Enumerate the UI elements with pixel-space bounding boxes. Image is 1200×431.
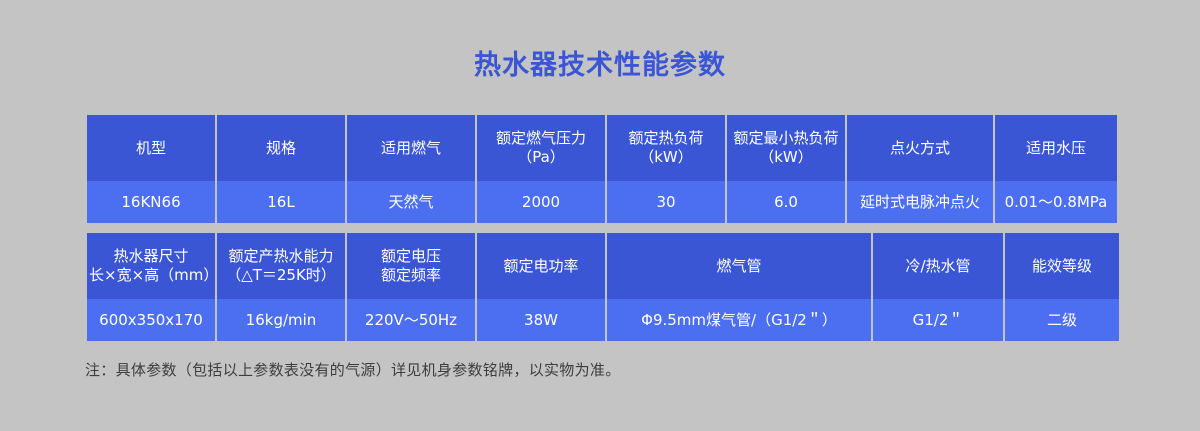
cell-voltage-frequency: 220V～50Hz: [347, 299, 475, 341]
header-line-2: （Pa）: [479, 148, 603, 167]
column-header-rated-gas-pressure: 额定燃气压力 （Pa）: [477, 115, 605, 181]
cell-gas-pipe: Φ9.5mm煤气管/（G1/2＂）: [607, 299, 871, 341]
table-header-row: 热水器尺寸 长×宽×高（mm） 额定产热水能力 （△T＝25K时） 额定电压 额…: [87, 233, 1119, 299]
column-header-rated-power: 额定电功率: [477, 233, 605, 299]
header-line-1: 额定燃气压力: [479, 129, 603, 148]
header-line-2: （△T＝25K时）: [219, 266, 343, 285]
column-header-rated-min-heat-load: 额定最小热负荷 （kW）: [727, 115, 845, 181]
cell-model: 16KN66: [87, 181, 215, 223]
column-header-spec: 规格: [217, 115, 345, 181]
header-line-2: （kW）: [609, 148, 723, 167]
header-line-1: 适用水压: [997, 139, 1115, 158]
header-line-1: 能效等级: [1007, 257, 1117, 276]
spec-table-2: 热水器尺寸 长×宽×高（mm） 额定产热水能力 （△T＝25K时） 额定电压 额…: [85, 233, 1121, 341]
column-header-ignition-type: 点火方式: [847, 115, 993, 181]
header-line-1: 额定电压: [349, 247, 473, 266]
header-line-1: 额定电功率: [479, 257, 603, 276]
column-header-hot-water-capacity: 额定产热水能力 （△T＝25K时）: [217, 233, 345, 299]
column-header-efficiency-grade: 能效等级: [1005, 233, 1119, 299]
cell-hot-water-capacity: 16kg/min: [217, 299, 345, 341]
cell-rated-min-heat-load: 6.0: [727, 181, 845, 223]
header-line-2: 额定频率: [349, 266, 473, 285]
cell-efficiency-grade: 二级: [1005, 299, 1119, 341]
tables-container: 机型 规格 适用燃气 额定燃气压力 （Pa） 额定热负荷 （kW）: [85, 79, 1115, 341]
spec-table-1: 机型 规格 适用燃气 额定燃气压力 （Pa） 额定热负荷 （kW）: [85, 115, 1119, 223]
spec-sheet-page: 热水器技术性能参数 机型 规格 适用燃气: [0, 0, 1200, 431]
header-line-1: 额定产热水能力: [219, 247, 343, 266]
header-line-1: 冷/热水管: [875, 257, 1001, 276]
header-line-2: （kW）: [729, 148, 843, 167]
header-line-1: 燃气管: [609, 257, 869, 276]
cell-gas-type: 天然气: [347, 181, 475, 223]
table-row: 600x350x170 16kg/min 220V～50Hz 38W Φ9.5m…: [87, 299, 1119, 341]
table-header-row: 机型 规格 适用燃气 额定燃气压力 （Pa） 额定热负荷 （kW）: [87, 115, 1117, 181]
header-line-1: 热水器尺寸: [89, 247, 213, 266]
cell-rated-power: 38W: [477, 299, 605, 341]
column-header-model: 机型: [87, 115, 215, 181]
column-header-gas-pipe: 燃气管: [607, 233, 871, 299]
cell-dimensions: 600x350x170: [87, 299, 215, 341]
column-header-water-pressure: 适用水压: [995, 115, 1117, 181]
cell-rated-heat-load: 30: [607, 181, 725, 223]
column-header-voltage-frequency: 额定电压 额定频率: [347, 233, 475, 299]
header-line-1: 规格: [219, 139, 343, 158]
cell-ignition-type: 延时式电脉冲点火: [847, 181, 993, 223]
header-line-1: 额定热负荷: [609, 129, 723, 148]
header-line-1: 适用燃气: [349, 139, 473, 158]
header-line-2: 长×宽×高（mm）: [89, 266, 213, 285]
column-header-dimensions: 热水器尺寸 长×宽×高（mm）: [87, 233, 215, 299]
cell-water-pressure: 0.01～0.8MPa: [995, 181, 1117, 223]
cell-rated-gas-pressure: 2000: [477, 181, 605, 223]
cell-water-pipe: G1/2＂: [873, 299, 1003, 341]
header-line-1: 点火方式: [849, 139, 991, 158]
page-title: 热水器技术性能参数: [0, 0, 1200, 79]
column-header-gas-type: 适用燃气: [347, 115, 475, 181]
cell-spec: 16L: [217, 181, 345, 223]
footnote: 注：具体参数（包括以上参数表没有的气源）详见机身参数铭牌，以实物为准。: [85, 341, 1115, 380]
column-header-rated-heat-load: 额定热负荷 （kW）: [607, 115, 725, 181]
column-header-water-pipe: 冷/热水管: [873, 233, 1003, 299]
header-line-1: 额定最小热负荷: [729, 129, 843, 148]
header-line-1: 机型: [89, 139, 213, 158]
table-row: 16KN66 16L 天然气 2000 30 6.0 延时式电脉冲点火 0.01…: [87, 181, 1117, 223]
